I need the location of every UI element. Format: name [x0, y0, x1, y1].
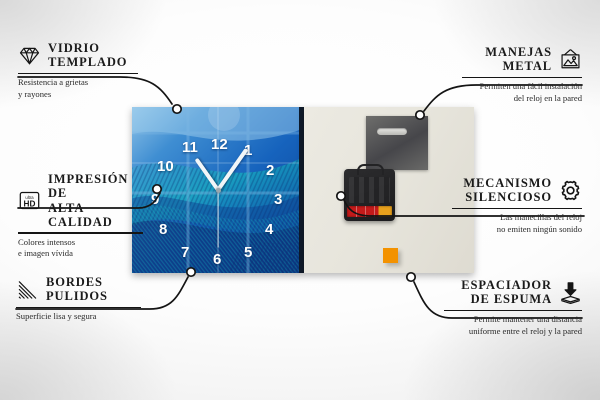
callout-title: VIDRIO TEMPLADO	[48, 41, 127, 70]
callout-subtitle: Colores intensos e imagen vívida	[18, 237, 143, 260]
callout-title: MECANISMO SILENCIOSO	[463, 176, 552, 205]
movement-hook	[357, 164, 384, 175]
foam-spacer-part	[383, 248, 398, 263]
callout-bordes-pulidos: BORDES PULIDOS Superficie lisa y segura	[16, 275, 141, 323]
polished-edges-icon	[16, 278, 39, 301]
infographic-canvas: 12 1 2 3 4 5 6 7 8 9 10 11	[0, 0, 600, 400]
foam-spacer-icon	[559, 281, 582, 304]
callout-espaciador-espuma: ESPACIADOR DE ESPUMA Permite mantener un…	[444, 278, 582, 337]
clock-numeral-10: 10	[157, 159, 174, 174]
callout-rule	[452, 208, 582, 210]
callout-subtitle: Permite mantener una distancia uniforme …	[444, 314, 582, 337]
clock-numeral-8: 8	[159, 222, 167, 237]
hanger-slot	[377, 128, 407, 135]
callout-mecanismo-silencioso: MECANISMO SILENCIOSO Las manecillas del …	[452, 176, 582, 235]
clock-numeral-12: 12	[211, 137, 228, 152]
gear-icon	[559, 179, 582, 202]
clock-numeral-5: 5	[244, 245, 252, 260]
movement-body	[349, 177, 390, 203]
connector-node-espaciador	[407, 273, 415, 281]
callout-subtitle: Superficie lisa y segura	[16, 311, 141, 322]
callout-title: IMPRESIÓN DE ALTA CALIDAD	[48, 172, 143, 229]
clock-numeral-3: 3	[274, 192, 282, 207]
callout-title: ESPACIADOR DE ESPUMA	[461, 278, 552, 307]
callout-manejas-metal: MANEJAS METAL Permiten una fácil instala…	[462, 45, 582, 104]
callout-rule	[462, 77, 582, 79]
clock-numeral-9: 9	[151, 192, 159, 207]
quartz-movement-part	[344, 169, 395, 221]
callout-impresion-alta-calidad: ultra HD IMPRESIÓN DE ALTA CALIDAD Color…	[18, 172, 143, 259]
svg-text:HD: HD	[24, 199, 36, 208]
callout-rule	[444, 310, 582, 312]
callout-rule	[16, 307, 141, 309]
clock-second-hand	[217, 190, 218, 248]
ultra-hd-icon: ultra HD	[18, 189, 41, 212]
product-image: 12 1 2 3 4 5 6 7 8 9 10 11	[132, 107, 474, 273]
metal-hanger-part	[366, 116, 428, 170]
clock-numeral-2: 2	[266, 163, 274, 178]
callout-rule	[18, 232, 143, 234]
diamond-icon	[18, 44, 41, 67]
callout-rule	[18, 73, 138, 75]
clock-back-panel	[304, 107, 474, 273]
callout-title: MANEJAS METAL	[485, 45, 552, 74]
clock-numeral-6: 6	[213, 252, 221, 267]
callout-title: BORDES PULIDOS	[46, 275, 108, 304]
callout-subtitle: Permiten una fácil instalación del reloj…	[462, 81, 582, 104]
clock-numeral-4: 4	[265, 222, 273, 237]
clock-hand-cap	[216, 188, 221, 193]
clock-numeral-7: 7	[181, 245, 189, 260]
picture-hanger-icon	[559, 48, 582, 71]
clock-numeral-11: 11	[182, 140, 198, 155]
callout-subtitle: Resistencia a grietas y rayones	[18, 77, 138, 100]
clock-face-panel: 12 1 2 3 4 5 6 7 8 9 10 11	[132, 107, 304, 273]
callout-vidrio-templado: VIDRIO TEMPLADO Resistencia a grietas y …	[18, 41, 138, 100]
callout-subtitle: Las manecillas del reloj no emiten ningú…	[452, 212, 582, 235]
movement-label	[347, 206, 392, 217]
